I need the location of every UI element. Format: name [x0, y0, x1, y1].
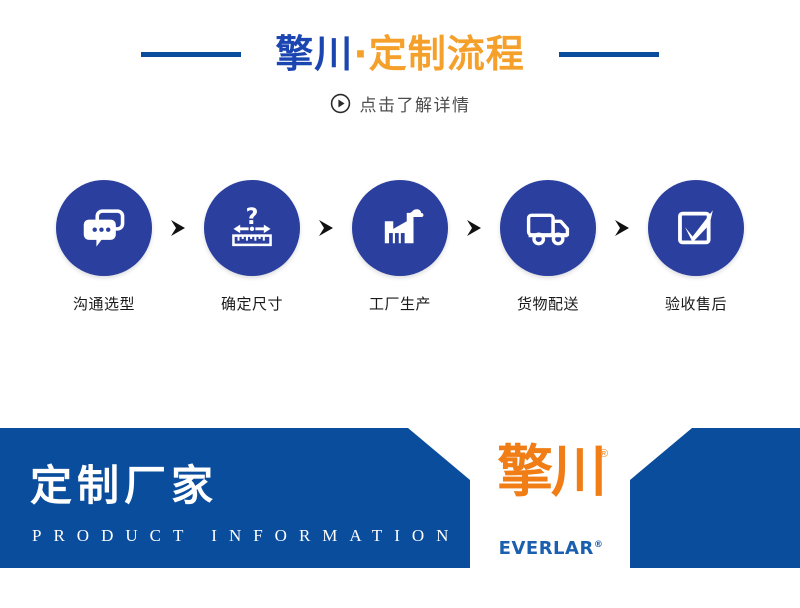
- banner-panel-right: [630, 428, 800, 568]
- step-icon-circle[interactable]: [648, 180, 744, 276]
- subtitle-row[interactable]: 点击了解详情: [0, 88, 800, 118]
- step-item[interactable]: 货物配送: [492, 180, 604, 314]
- logo-brand-en-text: EVERLAR: [499, 538, 594, 559]
- step-label: 货物配送: [492, 293, 604, 314]
- svg-text:?: ?: [246, 205, 259, 230]
- step-arrow-icon: [604, 180, 640, 276]
- brand-logo[interactable]: 擎川 ® EVERLAR®: [486, 446, 616, 562]
- logo-brand-registered-icon: ®: [594, 540, 604, 550]
- step-icon-circle[interactable]: [56, 180, 152, 276]
- subtitle-text: 点击了解详情: [360, 91, 471, 116]
- checkbox-check-icon: [669, 201, 723, 255]
- page-title-brand: 擎川: [275, 32, 353, 76]
- step-item[interactable]: ?: [196, 180, 308, 314]
- process-steps: 沟通选型 ?: [0, 180, 800, 330]
- step-item[interactable]: 沟通选型: [48, 180, 160, 314]
- step-label: 沟通选型: [48, 293, 160, 314]
- step-arrow-icon: [456, 180, 492, 276]
- step-icon-circle[interactable]: ?: [204, 180, 300, 276]
- bottom-banner: 定制厂家 PRODUCT INFORMATION 擎川 ® EVERLAR®: [0, 428, 800, 568]
- logo-brand-en: EVERLAR®: [486, 538, 616, 559]
- title-rule-right: [559, 52, 659, 57]
- step-label: 确定尺寸: [196, 293, 308, 314]
- header-section: 擎川·定制流程 点击了解详情: [0, 0, 800, 135]
- step-icon-circle[interactable]: [352, 180, 448, 276]
- step-arrow-icon: [308, 180, 344, 276]
- step-label: 工厂生产: [344, 293, 456, 314]
- play-circle-icon[interactable]: [330, 93, 351, 114]
- step-item[interactable]: 验收售后: [640, 180, 752, 314]
- page-root: 擎川·定制流程 点击了解详情: [0, 0, 800, 608]
- page-title: 擎川·定制流程: [275, 35, 524, 73]
- step-label: 验收售后: [640, 293, 752, 314]
- chat-bubbles-icon: [77, 201, 131, 255]
- step-icon-circle[interactable]: [500, 180, 596, 276]
- ruler-question-icon: ?: [225, 201, 279, 255]
- step-arrow-icon: [160, 180, 196, 276]
- title-rule-left: [141, 52, 241, 57]
- logo-mark-cn: 擎川: [486, 444, 616, 500]
- factory-icon: [373, 201, 427, 255]
- page-title-suffix: 定制流程: [369, 32, 525, 76]
- banner-headline-cn: 定制厂家: [30, 452, 218, 513]
- delivery-truck-icon: [521, 201, 575, 255]
- section-title-row: 擎川·定制流程: [0, 28, 800, 80]
- logo-registered-icon: ®: [600, 448, 608, 460]
- page-title-separator: ·: [353, 32, 368, 76]
- step-item[interactable]: 工厂生产: [344, 180, 456, 314]
- logo-mark: 擎川 ®: [486, 446, 616, 534]
- banner-headline-en: PRODUCT INFORMATION: [32, 526, 460, 546]
